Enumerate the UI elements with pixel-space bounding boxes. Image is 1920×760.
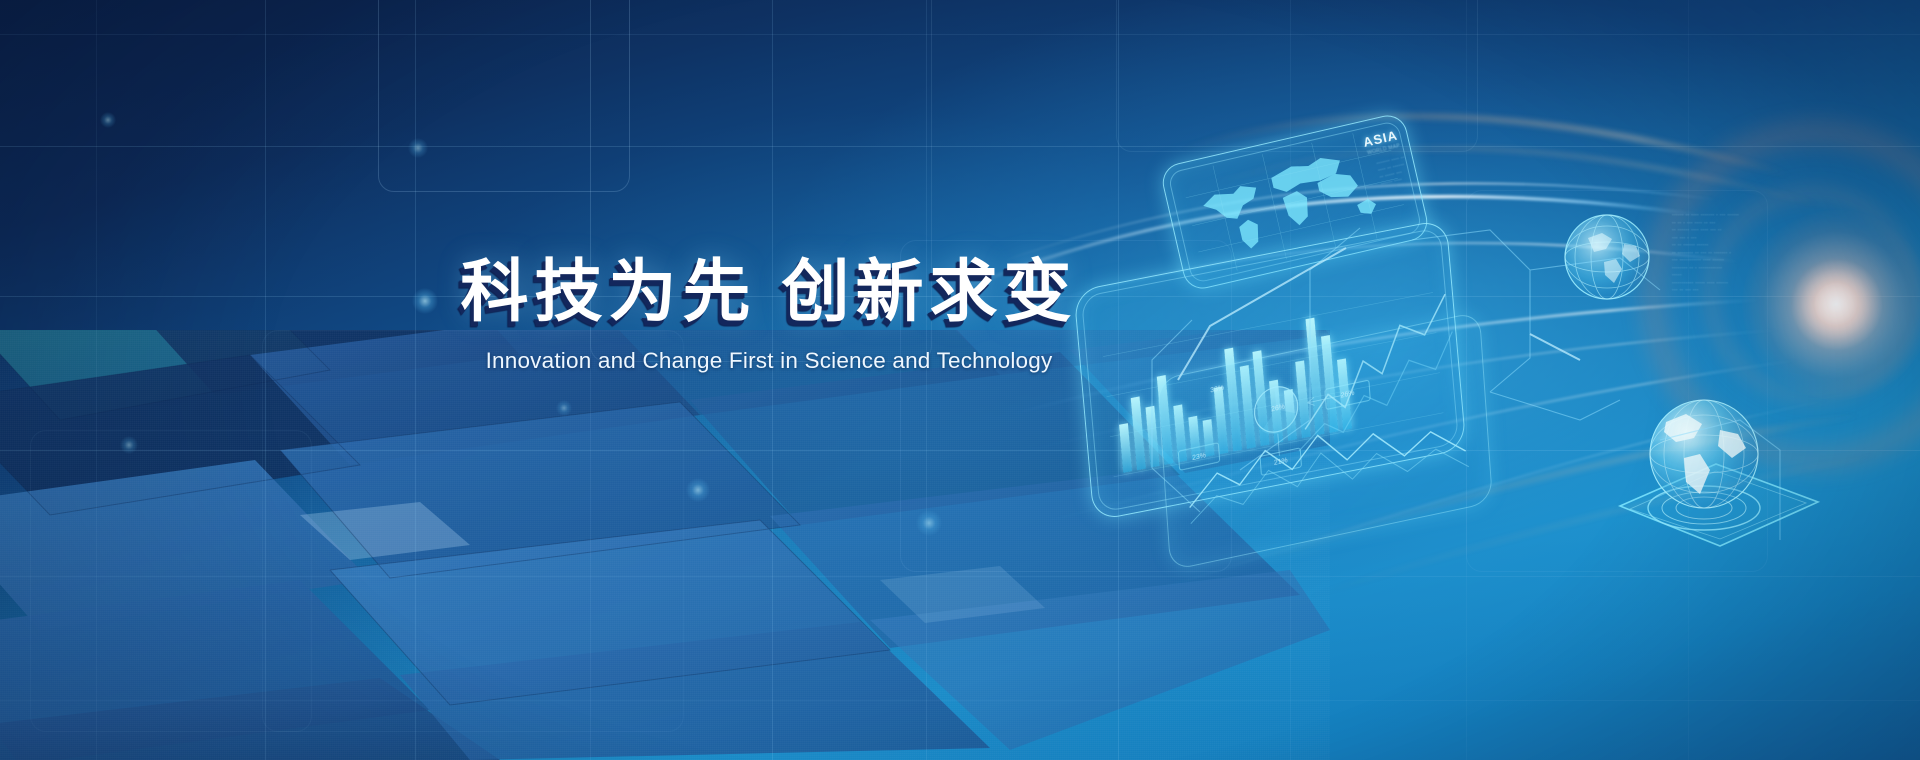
page-subtitle: Innovation and Change First in Science a… bbox=[389, 348, 1149, 374]
headline-block: 科技为先 创新求变 Innovation and Change First in… bbox=[389, 258, 1149, 374]
data-text-block: ------ -- ---- ------- - --- ------ -- -… bbox=[1672, 212, 1739, 295]
globe-platform-panel bbox=[1608, 378, 1828, 558]
hero-banner: ASIA WORLD MAP ------- ---- ------ -- --… bbox=[0, 0, 1920, 760]
holo-collage: ASIA WORLD MAP ------- ---- ------ -- --… bbox=[1060, 120, 1920, 640]
page-title: 科技为先 创新求变 bbox=[389, 258, 1149, 326]
wireframe-globe bbox=[1552, 202, 1662, 312]
